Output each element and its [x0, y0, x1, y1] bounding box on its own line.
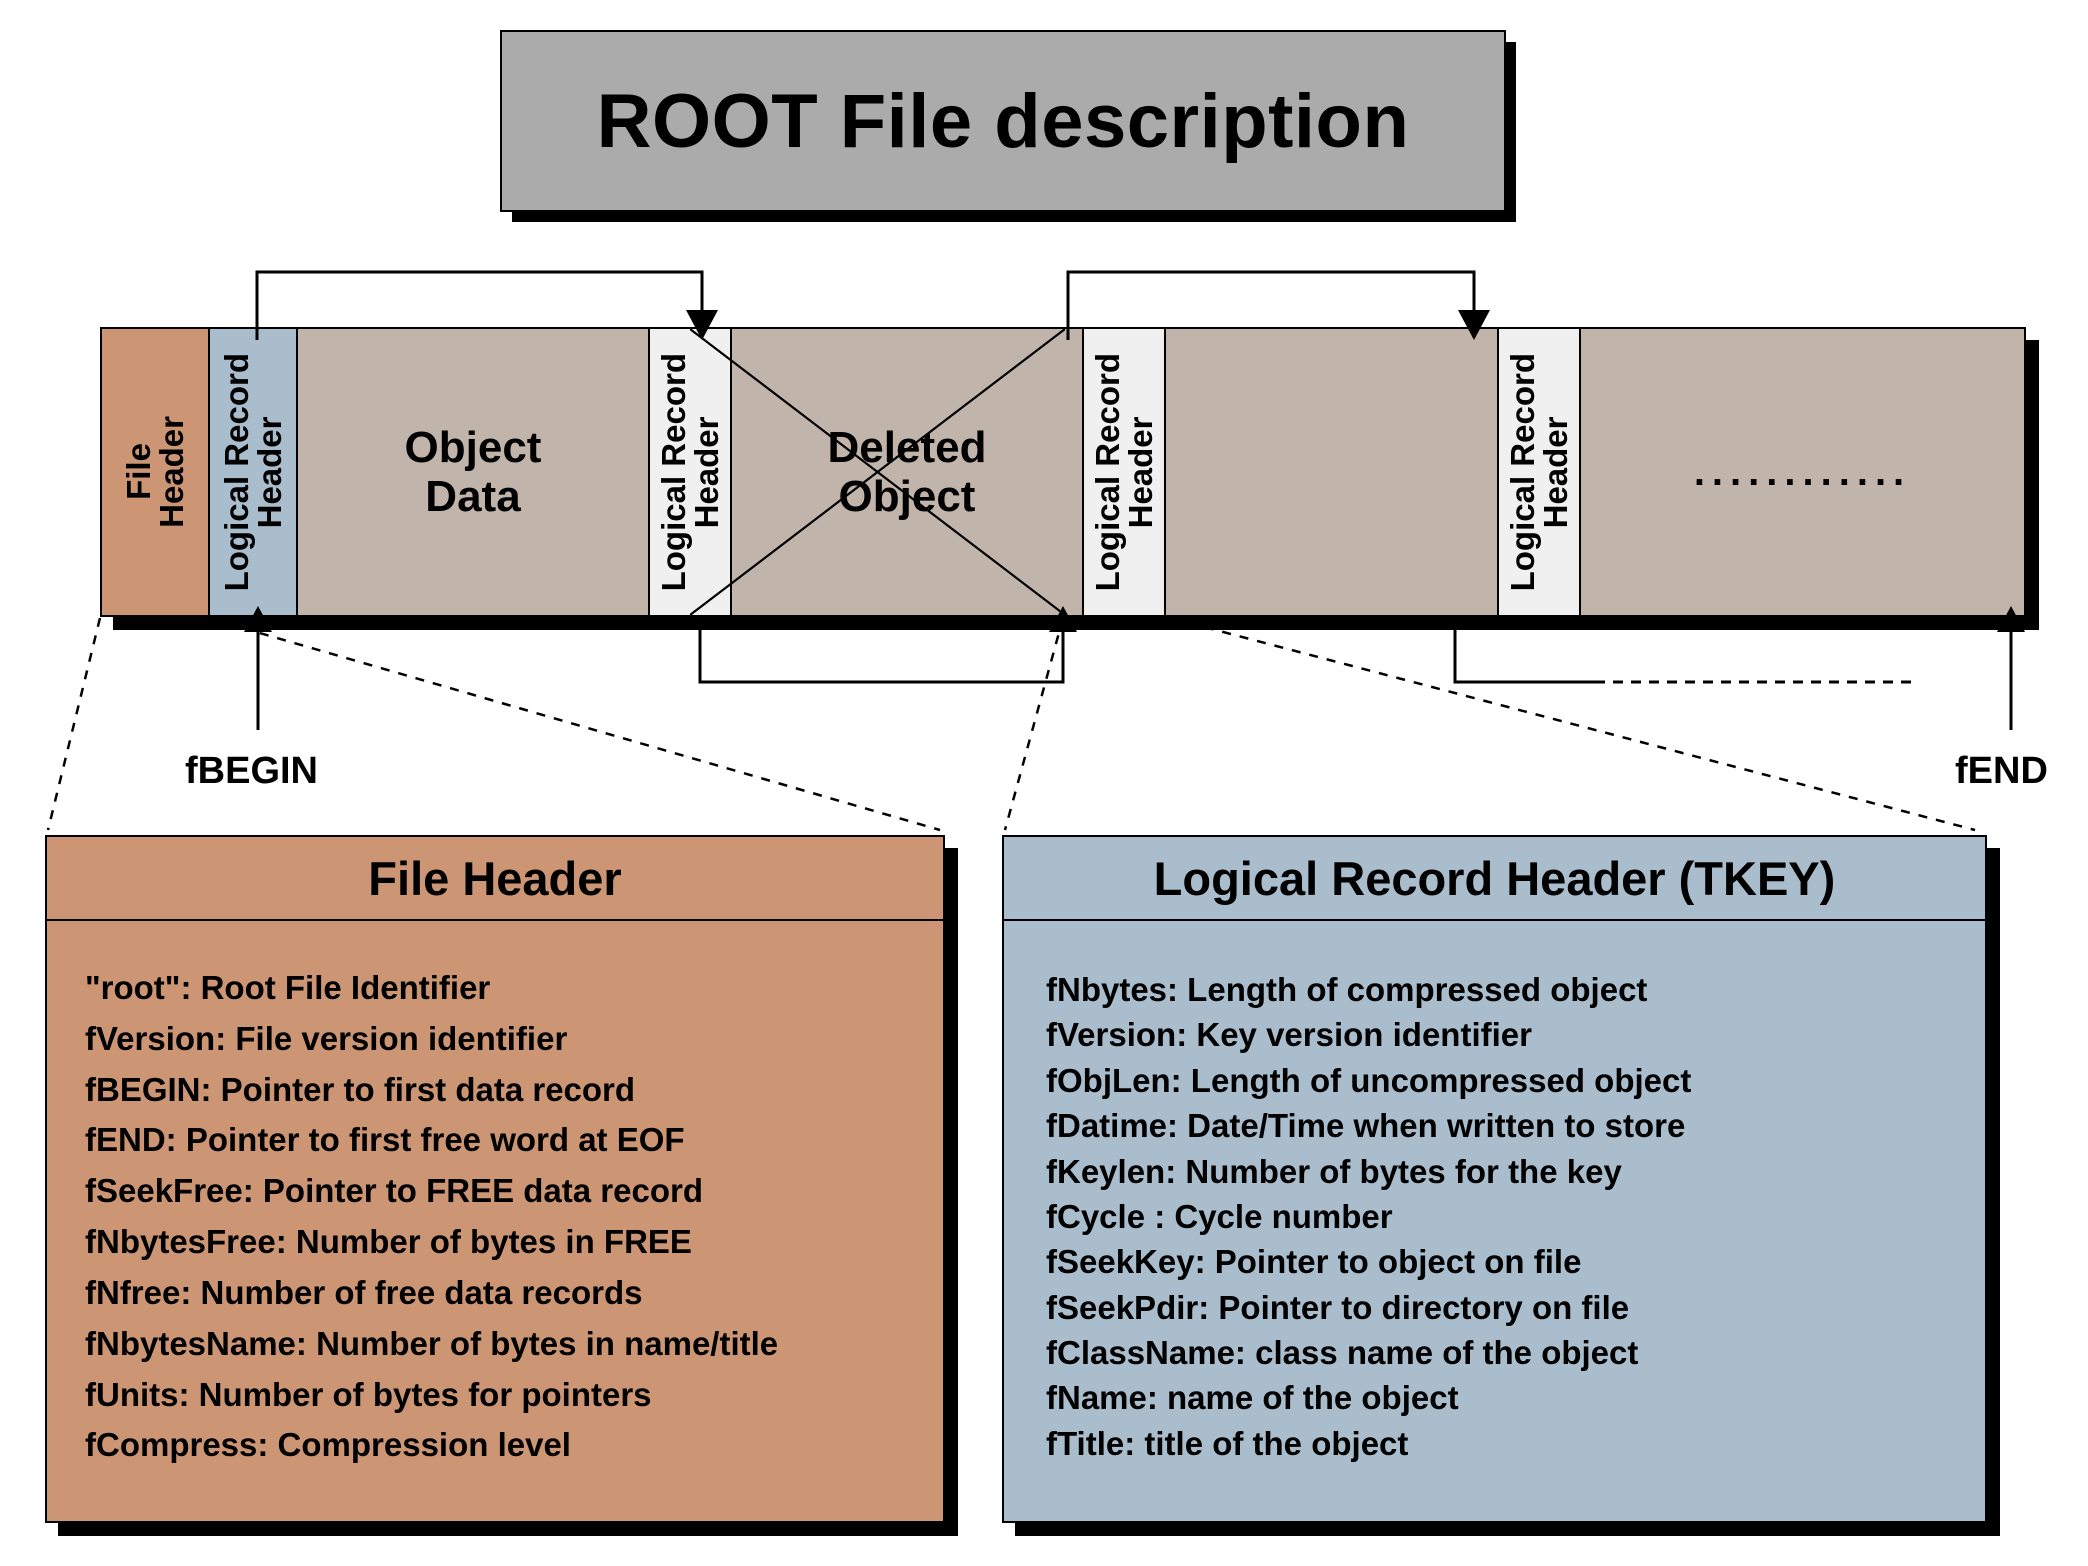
list-item: fObjLen: Length of uncompressed object: [1046, 1058, 1985, 1103]
tkey-detail-box: Logical Record Header (TKEY) fNbytes: Le…: [1002, 835, 1987, 1523]
list-item: fName: name of the object: [1046, 1375, 1985, 1420]
file-layout-bar: File Header Logical Record Header Object…: [100, 327, 2026, 617]
tkey-field-list: fNbytes: Length of compressed object fVe…: [1004, 937, 1985, 1476]
list-item: fDatime: Date/Time when written to store: [1046, 1103, 1985, 1148]
list-item: fNbytes: Length of compressed object: [1046, 967, 1985, 1012]
leader-file-header-right: [208, 618, 940, 830]
fbegin-label: fBEGIN: [185, 750, 318, 793]
segment-object-data-2[interactable]: [1166, 329, 1499, 615]
segment-ellipsis-region[interactable]: ............: [1581, 329, 2024, 615]
callout-leader-lines: [0, 600, 2088, 840]
list-item: fBEGIN: Pointer to first data record: [85, 1065, 943, 1116]
list-item: fTitle: title of the object: [1046, 1421, 1985, 1466]
segment-logical-record-header-1[interactable]: Logical Record Header: [210, 329, 298, 615]
list-item: fCycle : Cycle number: [1046, 1194, 1985, 1239]
segment-lrh-4-label: Logical Record Header: [1506, 353, 1572, 591]
record-chain-arrows-top: [0, 260, 2088, 340]
list-item: fKeylen: Number of bytes for the key: [1046, 1149, 1985, 1194]
leader-tkey-left: [1005, 618, 1063, 830]
segment-object-data-label: Object Data: [405, 423, 542, 522]
chain-arrow-1: [257, 272, 718, 340]
list-item: fSeekKey: Pointer to object on file: [1046, 1239, 1985, 1284]
list-item: fClassName: class name of the object: [1046, 1330, 1985, 1375]
segment-deleted-object[interactable]: Deleted Object: [732, 329, 1084, 615]
file-header-detail-box: File Header "root": Root File Identifier…: [45, 835, 945, 1523]
list-item: fUnits: Number of bytes for pointers: [85, 1370, 943, 1421]
list-item: fNbytesFree: Number of bytes in FREE: [85, 1217, 943, 1268]
page-title: ROOT File description: [500, 30, 1506, 212]
segment-object-data[interactable]: Object Data: [298, 329, 650, 615]
list-item: fNfree: Number of free data records: [85, 1268, 943, 1319]
leader-tkey-right: [1170, 618, 1975, 830]
list-item: fSeekFree: Pointer to FREE data record: [85, 1166, 943, 1217]
list-item: fVersion: Key version identifier: [1046, 1012, 1985, 1057]
segment-lrh-3-label: Logical Record Header: [1091, 353, 1157, 591]
list-item: "root": Root File Identifier: [85, 963, 943, 1014]
segment-lrh-2-label: Logical Record Header: [657, 353, 723, 591]
list-item: fEND: Pointer to first free word at EOF: [85, 1115, 943, 1166]
file-header-box-title: File Header: [47, 837, 943, 921]
list-item: fVersion: File version identifier: [85, 1014, 943, 1065]
segment-file-header[interactable]: File Header: [102, 329, 210, 615]
segment-lrh-1-label: Logical Record Header: [220, 353, 286, 591]
segment-deleted-object-label: Deleted Object: [828, 423, 987, 522]
segment-logical-record-header-4[interactable]: Logical Record Header: [1499, 329, 1581, 615]
segment-logical-record-header-3[interactable]: Logical Record Header: [1084, 329, 1166, 615]
tkey-box-title: Logical Record Header (TKEY): [1004, 837, 1985, 921]
ellipsis-label: ............: [1694, 452, 1911, 492]
list-item: fSeekPdir: Pointer to directory on file: [1046, 1285, 1985, 1330]
fend-label: fEND: [1955, 750, 2048, 793]
leader-file-header-left: [48, 618, 100, 830]
file-header-box-title-text: File Header: [368, 851, 621, 906]
list-item: fCompress: Compression level: [85, 1420, 943, 1471]
page-title-text: ROOT File description: [597, 78, 1410, 165]
segment-logical-record-header-2[interactable]: Logical Record Header: [650, 329, 732, 615]
chain-arrow-2: [1068, 272, 1490, 340]
file-header-field-list: "root": Root File Identifier fVersion: F…: [47, 937, 943, 1481]
tkey-box-title-text: Logical Record Header (TKEY): [1154, 851, 1836, 906]
list-item: fNbytesName: Number of bytes in name/tit…: [85, 1319, 943, 1370]
segment-file-header-label: File Header: [122, 416, 188, 528]
